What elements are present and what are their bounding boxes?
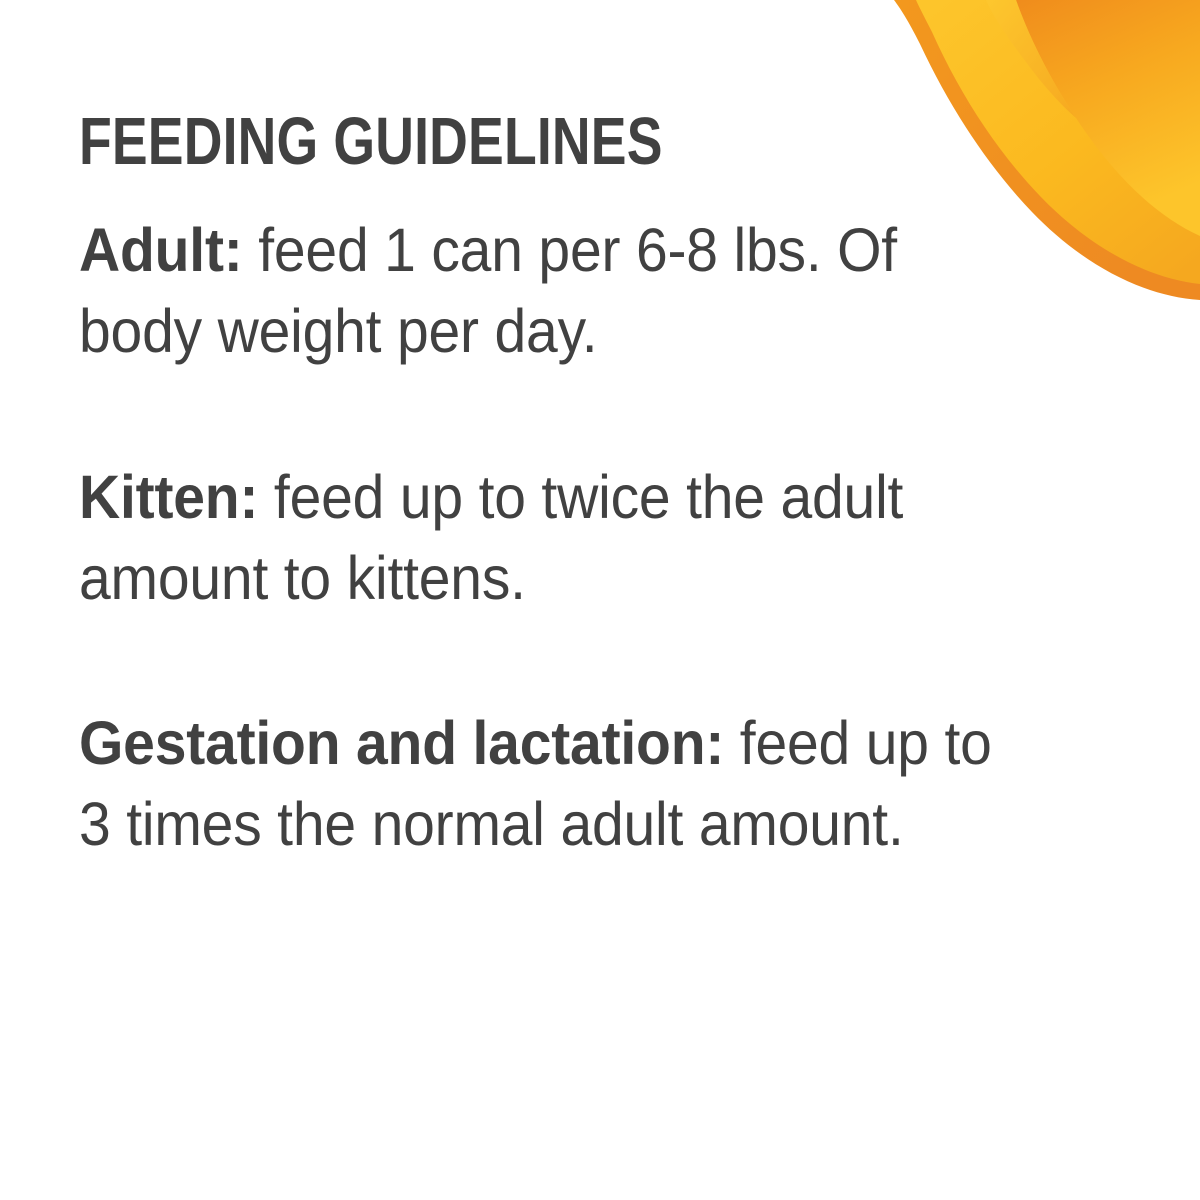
content-column: FEEDING GUIDELINES Adult: feed 1 can per…	[79, 108, 1079, 865]
guideline-label-adult: Adult:	[79, 216, 243, 284]
page-title: FEEDING GUIDELINES	[79, 108, 879, 176]
feeding-guidelines-panel: FEEDING GUIDELINES Adult: feed 1 can per…	[0, 0, 1200, 1200]
guideline-item-kitten: Kitten: feed up to twice the adult amoun…	[79, 457, 1014, 619]
guideline-label-kitten: Kitten:	[79, 463, 258, 531]
guideline-item-adult: Adult: feed 1 can per 6-8 lbs. Of body w…	[79, 210, 1014, 372]
guideline-label-gestation: Gestation and lactation:	[79, 709, 724, 777]
swoosh-tip-layer	[986, 0, 1076, 118]
guideline-item-gestation: Gestation and lactation: feed up to 3 ti…	[79, 703, 1014, 865]
